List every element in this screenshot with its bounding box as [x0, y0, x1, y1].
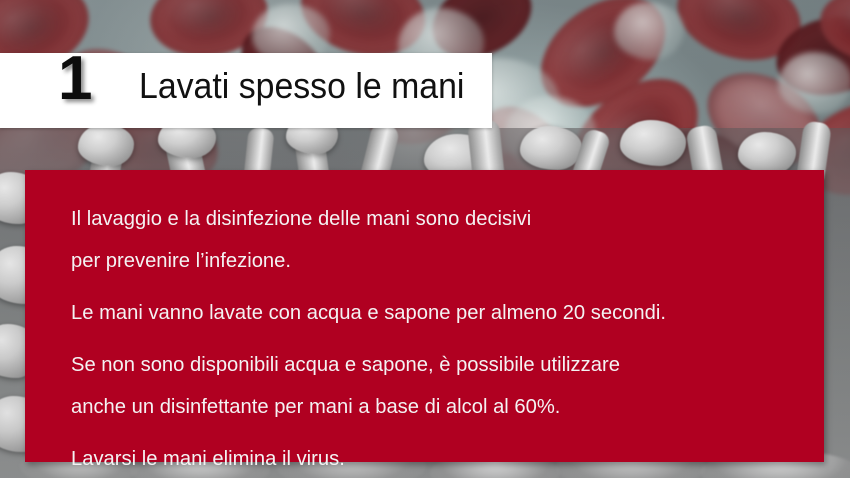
body-line: anche un disinfettante per mani a base d… [71, 392, 795, 422]
body-line: Il lavaggio e la disinfezione delle mani… [71, 204, 795, 234]
body-copy: Il lavaggio e la disinfezione delle mani… [71, 204, 806, 474]
body-line: Lavarsi le mani elimina il virus. [71, 444, 795, 474]
page-title: Lavati spesso le mani [139, 66, 464, 106]
slide-root: 1 Lavati spesso le mani Il lavaggio e la… [0, 0, 850, 478]
body-line: Le mani vanno lavate con acqua e sapone … [71, 298, 795, 328]
step-number: 1 [58, 48, 91, 110]
body-line: Se non sono disponibili acqua e sapone, … [71, 350, 795, 380]
body-line: per prevenire l’infezione. [71, 246, 795, 276]
content-panel: Il lavaggio e la disinfezione delle mani… [25, 170, 824, 462]
